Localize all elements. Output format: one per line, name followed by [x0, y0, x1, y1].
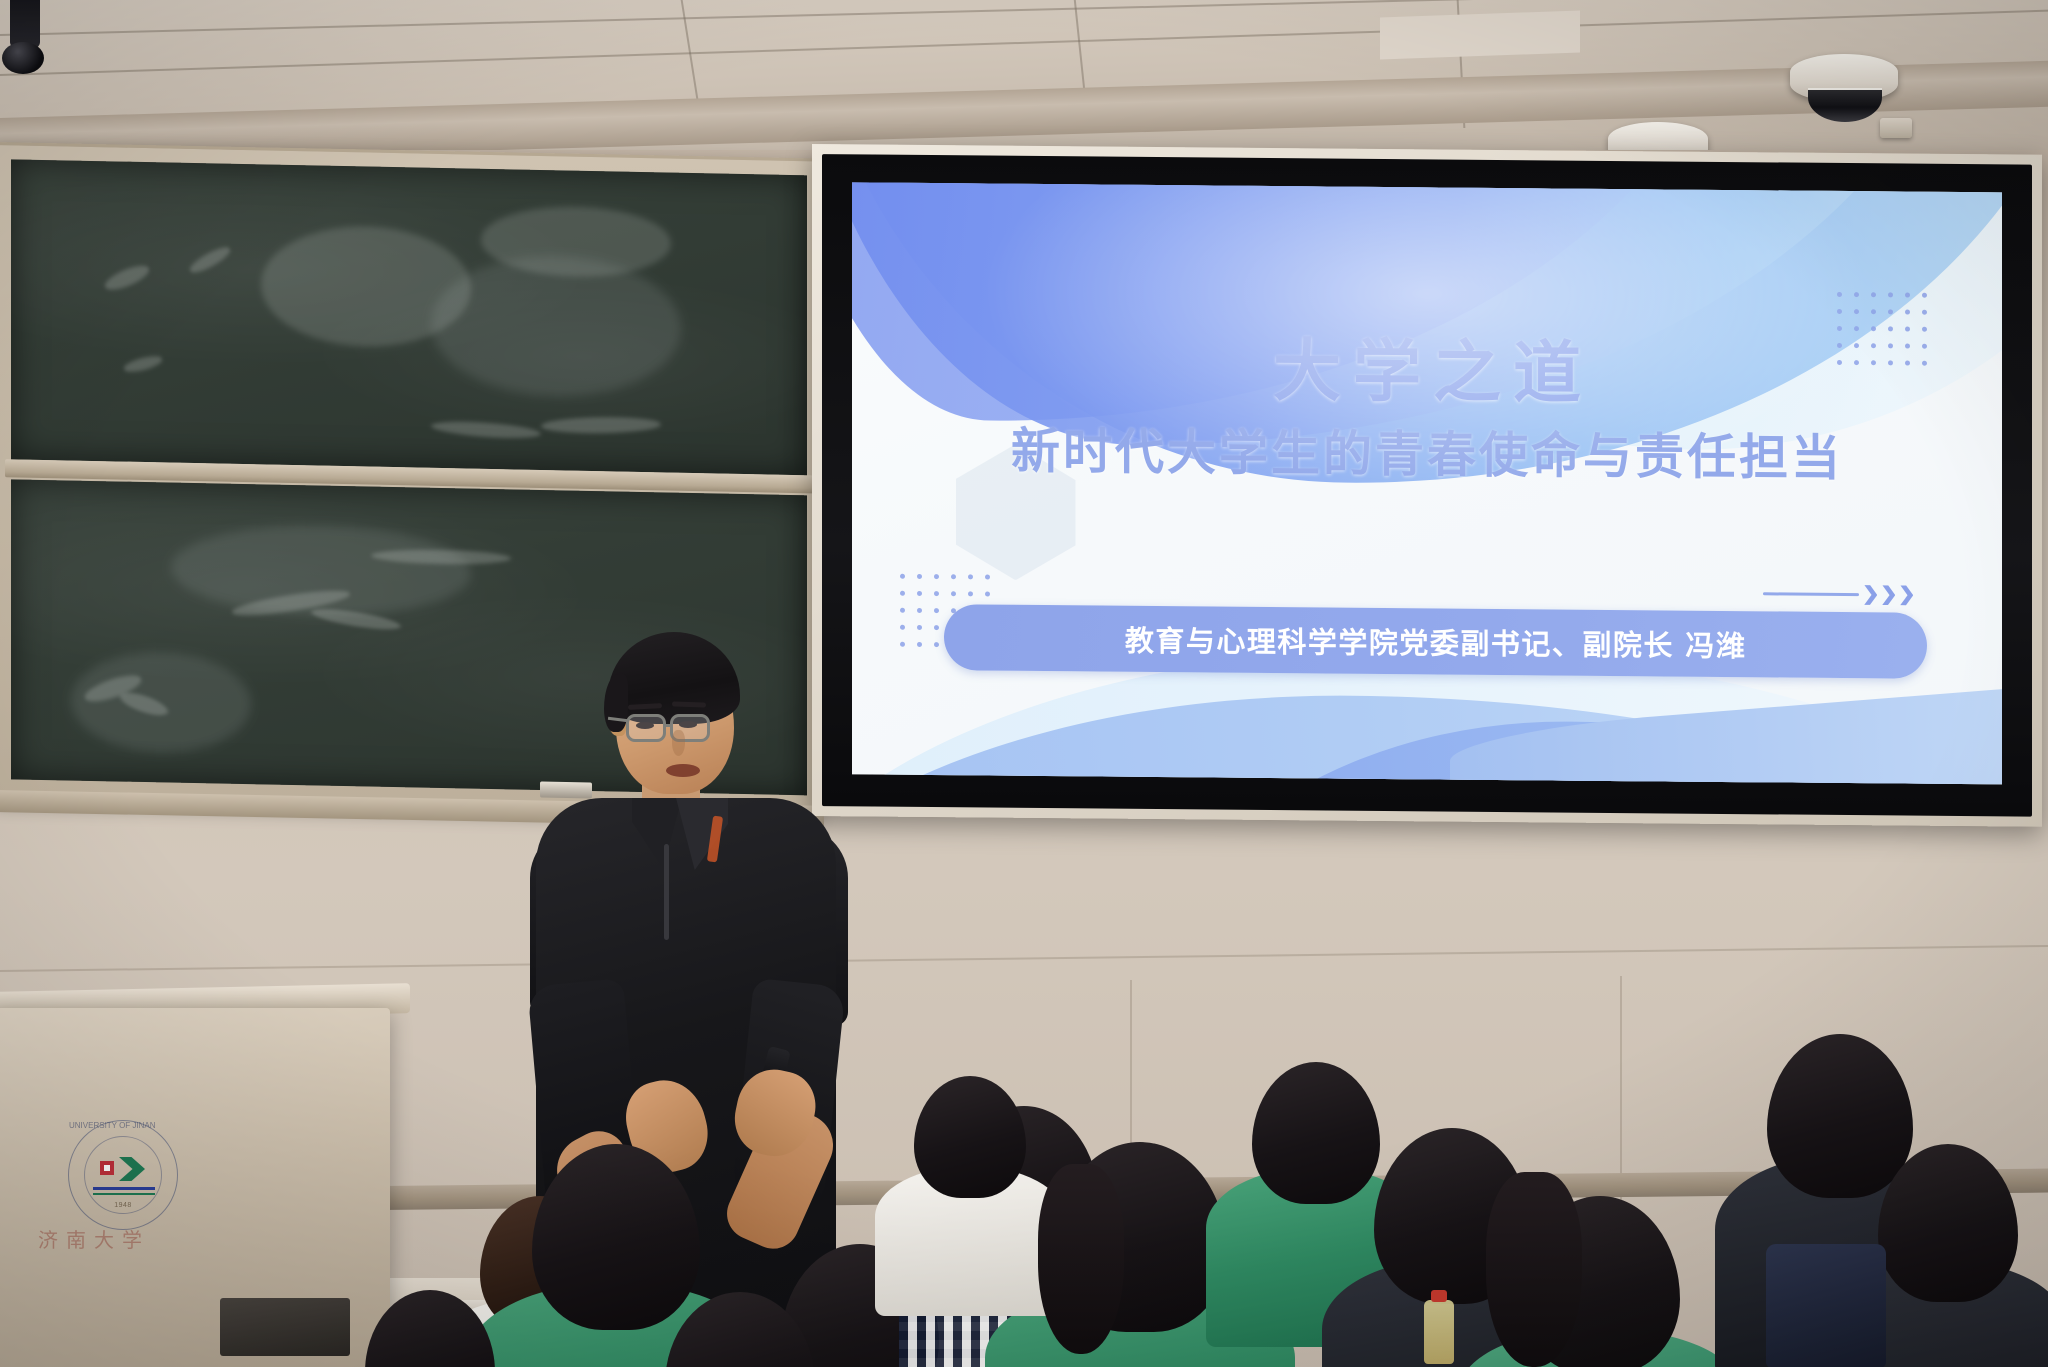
presenter-nose — [672, 730, 685, 756]
presenter-placket — [664, 844, 669, 940]
water-bottle — [1424, 1300, 1454, 1364]
podium-chinese-name: 济南大学 — [38, 1224, 208, 1264]
lecture-hall-screenshot: 大学之道 新时代大学生的青春使命与责任担当 教育与心理科学学院党委副书记、副院长… — [0, 0, 2048, 1367]
projection-screen-frame: 大学之道 新时代大学生的青春使命与责任担当 教育与心理科学学院党委副书记、副院长… — [812, 144, 2042, 827]
glasses-bridge — [665, 724, 673, 727]
student-front-center — [665, 1292, 815, 1367]
podium: UNIVERSITY OF JINAN 1948 济南大学 — [0, 1008, 390, 1367]
chevron-right-icon — [1900, 585, 1913, 605]
emblem-red-square — [100, 1161, 114, 1175]
camera-lens — [1808, 88, 1882, 122]
blackboard-panel-upper — [11, 159, 807, 475]
hanging-microphone-head — [2, 42, 44, 74]
chevron-group — [1763, 584, 1913, 605]
slide-title: 大学之道 — [852, 330, 2002, 416]
emblem-year: 1948 — [85, 1202, 161, 1209]
student-front-left — [365, 1290, 495, 1367]
bottle-cap — [1431, 1290, 1447, 1302]
ceiling-panel — [1380, 11, 1580, 60]
chevron-right-icon — [1864, 585, 1877, 605]
podium-control-panel — [220, 1298, 350, 1356]
chevron-rule — [1763, 592, 1859, 596]
student-long-hair — [1486, 1172, 1582, 1367]
student-head — [665, 1292, 815, 1367]
university-emblem: UNIVERSITY OF JINAN 1948 — [68, 1120, 178, 1230]
emblem-green-line — [93, 1193, 155, 1195]
emblem-inner: 1948 — [84, 1136, 162, 1214]
screen-bezel: 大学之道 新时代大学生的青春使命与责任担当 教育与心理科学学院党委副书记、副院长… — [822, 154, 2032, 817]
glasses-lens-left — [626, 714, 666, 742]
presenter-hair-side — [604, 674, 628, 732]
student-ponytail — [1038, 1164, 1124, 1354]
presenter-band-row: 教育与心理科学学院党委副书记、副院长 冯潍 — [944, 577, 1927, 679]
student-right-edge — [1878, 1144, 2018, 1367]
wall-seam — [0, 945, 2048, 972]
ceiling — [0, 0, 2048, 170]
student-white-shirt — [914, 1076, 1026, 1348]
slide-subtitle: 新时代大学生的青春使命与责任担当 — [852, 411, 2002, 492]
presenter-band: 教育与心理科学学院党委副书记、副院长 冯潍 — [944, 604, 1927, 679]
student-head — [914, 1076, 1026, 1198]
ceiling-speaker — [1880, 118, 1912, 138]
presenter-mouth — [666, 764, 700, 777]
ceiling-tile-seam — [0, 10, 2048, 76]
presentation-slide: 大学之道 新时代大学生的青春使命与责任担当 教育与心理科学学院党委副书记、副院长… — [852, 182, 2002, 784]
presenter-band-text: 教育与心理科学学院党委副书记、副院长 冯潍 — [1125, 623, 1747, 662]
student-head — [365, 1290, 495, 1367]
emblem-chevron-icon — [119, 1157, 145, 1181]
backpack — [1766, 1244, 1886, 1367]
slide-title-block: 大学之道 新时代大学生的青春使命与责任担当 — [852, 330, 2002, 491]
ceiling-tile-seam — [0, 0, 2048, 35]
hanging-microphone — [10, 0, 40, 48]
chevron-right-icon — [1882, 585, 1895, 605]
student-head — [1252, 1062, 1380, 1204]
emblem-blue-line — [93, 1187, 155, 1190]
dome-security-camera — [1790, 54, 1898, 124]
student-head — [1878, 1144, 2018, 1302]
